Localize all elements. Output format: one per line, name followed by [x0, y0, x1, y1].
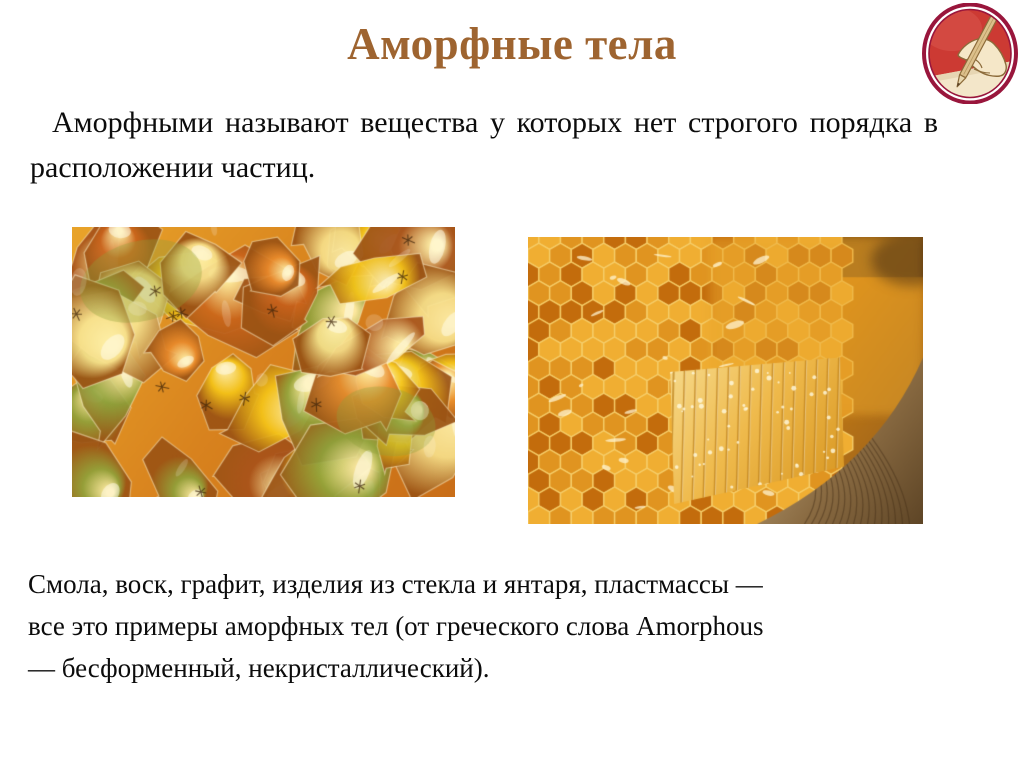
examples-line: Смола, воск, графит, изделия из стекла и…: [28, 563, 996, 605]
hand-writing-pencil-badge-icon: [922, 3, 1018, 104]
examples-line: — бесформенный, некристаллический).: [28, 647, 996, 689]
intro-paragraph: Аморфными называют вещества у которых не…: [30, 100, 938, 190]
image-honeycomb: [528, 237, 923, 524]
slide-root: Аморфные тела: [0, 0, 1024, 767]
examples-line: все это примеры аморфных тел (от греческ…: [28, 605, 996, 647]
image-amber-stones: [72, 227, 455, 497]
examples-paragraph: Смола, воск, графит, изделия из стекла и…: [28, 563, 996, 689]
page-title: Аморфные тела: [0, 16, 1024, 72]
